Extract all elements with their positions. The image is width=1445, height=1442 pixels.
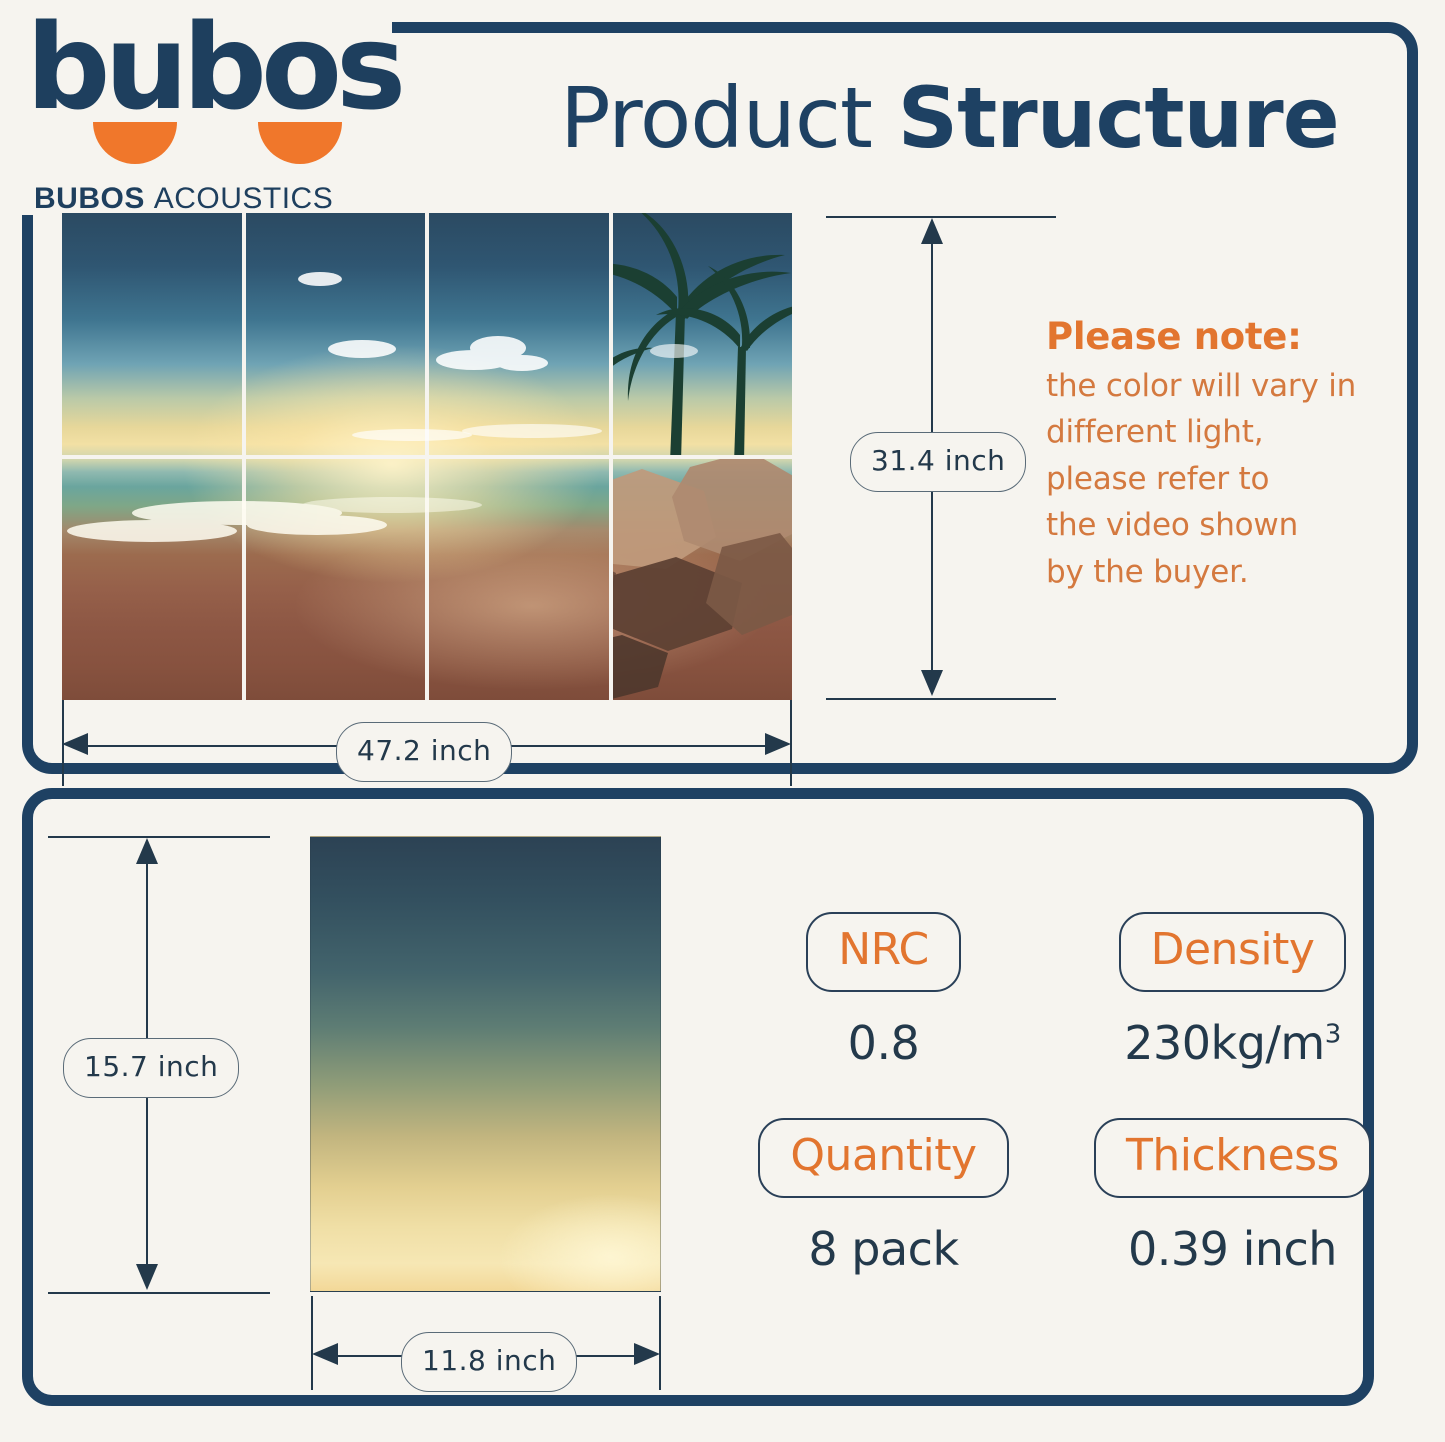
spec-value-thickness: 0.39 inch: [1077, 1226, 1388, 1272]
panel-tile: [62, 213, 242, 455]
brand-subtitle-regular: ACOUSTICS: [154, 182, 334, 215]
panel-tile: [246, 459, 426, 701]
spec-value-quantity: 8 pack: [728, 1226, 1039, 1272]
please-note-block: Please note: the color will vary in diff…: [1046, 316, 1396, 595]
page-title-bold: Structure: [898, 69, 1339, 167]
panel-tile: [429, 459, 609, 701]
dimension-label-grid-height: 31.4 inch: [850, 432, 1026, 492]
dimension-label-grid-width: 47.2 inch: [336, 722, 512, 782]
spec-value-text: 230kg/m: [1124, 1016, 1324, 1070]
spec-label-quantity: Quantity: [758, 1118, 1008, 1198]
note-line: the video shown: [1046, 502, 1396, 549]
infographic-root: bubos BUBOS ACOUSTICS Product Structure: [0, 0, 1445, 1442]
note-line: the color will vary in: [1046, 363, 1396, 410]
spec-quantity: Quantity 8 pack: [728, 1118, 1039, 1272]
page-title: Product Structure: [560, 76, 1339, 160]
guide-panel-bottom: [48, 1292, 270, 1294]
spec-nrc: NRC 0.8: [728, 912, 1039, 1066]
spec-label-nrc: NRC: [806, 912, 961, 992]
panel-tile: [613, 459, 793, 701]
panel-tile: [429, 213, 609, 455]
spec-label-thickness: Thickness: [1094, 1118, 1371, 1198]
note-line: please refer to: [1046, 456, 1396, 503]
note-line: different light,: [1046, 409, 1396, 456]
please-note-body: the color will vary in different light, …: [1046, 363, 1396, 596]
panel-tile: [246, 213, 426, 455]
single-panel-preview: [310, 836, 661, 1292]
spec-value-nrc: 0.8: [728, 1020, 1039, 1066]
panel-tile: [62, 459, 242, 701]
spec-label-density: Density: [1119, 912, 1347, 992]
spec-value-text: 0.8: [848, 1016, 920, 1070]
dimension-label-panel-height: 15.7 inch: [63, 1038, 239, 1098]
frame-dash-2: [452, 22, 472, 33]
note-line: by the buyer.: [1046, 549, 1396, 596]
spec-grid: NRC 0.8 Density 230kg/m3 Quantity 8 pack…: [728, 912, 1388, 1272]
spec-value-density: 230kg/m3: [1077, 1020, 1388, 1066]
spec-value-text: 0.39 inch: [1128, 1222, 1337, 1276]
please-note-title: Please note:: [1046, 316, 1396, 359]
dimension-label-panel-width: 11.8 inch: [401, 1332, 577, 1392]
guide-bottom: [826, 698, 1056, 700]
panel-grid: [62, 213, 792, 700]
brand-subtitle: BUBOS ACOUSTICS: [34, 182, 333, 216]
page-title-light: Product: [560, 69, 898, 167]
spec-density: Density 230kg/m3: [1077, 912, 1388, 1066]
panel-tile: [613, 213, 793, 455]
spec-value-text: 8 pack: [808, 1222, 958, 1276]
spec-value-superscript: 3: [1325, 1020, 1341, 1050]
spec-thickness: Thickness 0.39 inch: [1077, 1118, 1388, 1272]
brand-logo: bubos BUBOS ACOUSTICS: [18, 14, 438, 209]
brand-subtitle-bold: BUBOS: [34, 182, 145, 215]
bubos-smile-logo-icon: [18, 14, 438, 179]
